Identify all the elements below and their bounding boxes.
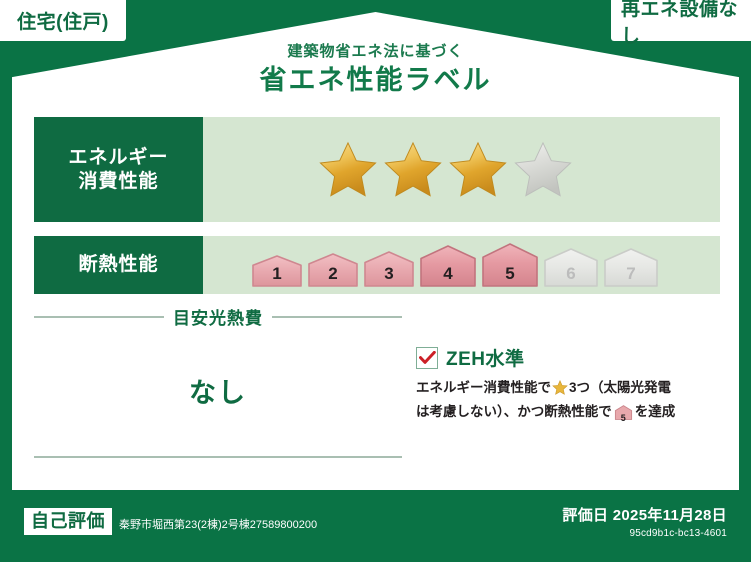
house-icon <box>251 254 303 288</box>
house-grade-7: 7 <box>603 247 659 288</box>
utility-cost-block: 目安光熱費 なし <box>34 304 402 410</box>
star-filled-icon <box>382 140 444 200</box>
self-evaluation-badge: 自己評価 <box>24 508 112 535</box>
house-grade-3: 3 <box>363 250 415 288</box>
energy-label-line1: エネルギー <box>68 146 168 170</box>
inline-house-grade-icon: 5 <box>614 405 633 427</box>
footer-bar: 自己評価 秦野市堀西第23(2棟)2号棟27589800200 評価日 2025… <box>0 490 751 562</box>
house-icon <box>363 250 415 288</box>
house-icon <box>603 247 659 288</box>
zeh-desc-line1-part1: エネルギー消費性能で <box>416 380 551 395</box>
main-panel: エネルギー 消費性能 断熱性能 1234567 目安光熱費 なし <box>12 108 739 490</box>
divider-line-right <box>272 316 402 318</box>
zeh-block: ZEH水準 エネルギー消費性能で3つ（太陽光発電 は考慮しない）、かつ断熱性能で… <box>416 344 722 427</box>
zeh-desc-line2-part1: は考慮しない）、かつ断熱性能で <box>416 404 612 419</box>
energy-performance-label-head: エネルギー 消費性能 <box>34 117 203 222</box>
house-icon <box>307 252 359 288</box>
house-grade-1: 1 <box>251 254 303 288</box>
insulation-label-line1: 断熱性能 <box>78 253 158 277</box>
zeh-desc-line2-part2: を達成 <box>635 404 676 419</box>
house-icon <box>419 244 477 288</box>
house-grade-5: 5 <box>481 242 539 288</box>
energy-performance-value <box>203 117 720 222</box>
star-rating <box>317 140 574 200</box>
inline-house-grade-number: 5 <box>614 412 633 426</box>
insulation-performance-row: 断熱性能 1234567 <box>34 236 720 294</box>
energy-label-line2: 消費性能 <box>78 170 158 194</box>
zeh-title: ZEH水準 <box>446 344 525 371</box>
house-grade-6: 6 <box>543 247 599 288</box>
house-grade-2: 2 <box>307 252 359 288</box>
insulation-performance-label-head: 断熱性能 <box>34 236 203 294</box>
housing-type-tag: 住宅(住戸) <box>0 0 126 41</box>
house-grade-4: 4 <box>419 244 477 288</box>
evaluation-date-block: 評価日 2025年11月28日 95cd9b1c-bc13-4601 <box>562 504 727 539</box>
energy-performance-label: 住宅(住戸) 再エネ設備なし 建築物省エネ法に基づく 省エネ性能ラベル エネルギ… <box>0 0 751 562</box>
header-block: 建築物省エネ法に基づく 省エネ性能ラベル <box>0 44 751 97</box>
header-title: 省エネ性能ラベル <box>0 64 751 98</box>
insulation-performance-value: 1234567 <box>203 236 720 294</box>
header-subtitle: 建築物省エネ法に基づく <box>0 44 751 61</box>
house-grade-scale: 1234567 <box>251 242 659 288</box>
check-icon <box>419 351 436 365</box>
zeh-checkbox[interactable] <box>416 347 438 369</box>
property-address: 秦野市堀西第23(2棟)2号棟27589800200 <box>119 516 317 535</box>
self-evaluation-block: 自己評価 秦野市堀西第23(2棟)2号棟27589800200 <box>24 508 317 535</box>
document-id: 95cd9b1c-bc13-4601 <box>562 528 727 539</box>
inline-star-icon <box>552 383 568 398</box>
zeh-desc-line1-part2: 3つ（太陽光発電 <box>569 380 671 395</box>
utility-cost-underline <box>34 456 402 458</box>
star-filled-icon <box>317 140 379 200</box>
star-filled-icon <box>447 140 509 200</box>
renewable-energy-tag: 再エネ設備なし <box>611 0 751 41</box>
house-icon <box>543 247 599 288</box>
zeh-heading: ZEH水準 <box>416 344 722 371</box>
utility-cost-heading: 目安光熱費 <box>34 304 402 329</box>
star-empty-icon <box>512 140 574 200</box>
utility-cost-title: 目安光熱費 <box>173 304 263 329</box>
zeh-description: エネルギー消費性能で3つ（太陽光発電 は考慮しない）、かつ断熱性能で5を達成 <box>416 378 722 427</box>
evaluation-date: 評価日 2025年11月28日 <box>562 504 727 525</box>
divider-line-left <box>34 316 164 318</box>
utility-cost-value: なし <box>34 371 402 410</box>
energy-performance-row: エネルギー 消費性能 <box>34 117 720 222</box>
house-icon <box>481 242 539 288</box>
